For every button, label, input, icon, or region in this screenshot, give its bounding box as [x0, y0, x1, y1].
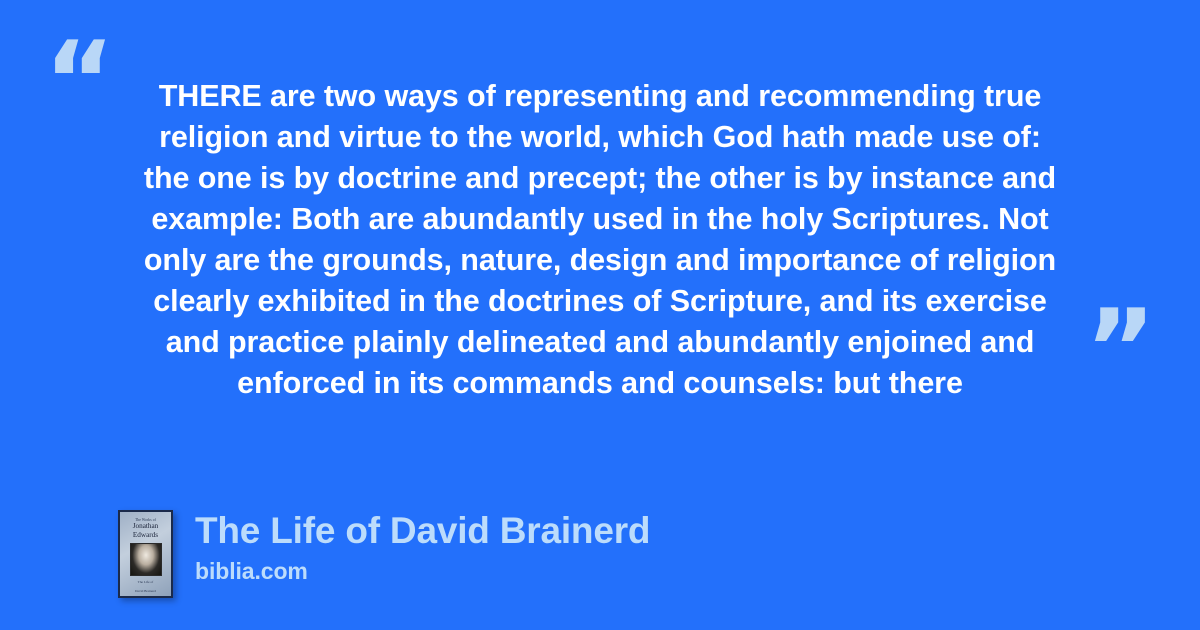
- quote-line: the one is by doctrine and precept; the …: [104, 158, 1096, 199]
- attribution-footer: The Works of Jonathan Edwards The Life o…: [118, 510, 650, 598]
- quote-line: example: Both are abundantly used in the…: [104, 199, 1096, 240]
- quote-text: THERE are two ways of representing and r…: [104, 76, 1096, 404]
- book-cover-thumbnail: The Works of Jonathan Edwards The Life o…: [118, 510, 173, 598]
- cover-title-line-2: David Brainerd: [135, 589, 156, 594]
- cover-title-line-1: The Life of: [138, 580, 153, 585]
- cover-author-first: Jonathan: [133, 522, 159, 531]
- book-cover-inner: The Works of Jonathan Edwards The Life o…: [122, 514, 169, 594]
- quote-line: religion and virtue to the world, which …: [104, 117, 1096, 158]
- quote-line: enforced in its commands and counsels: b…: [104, 363, 1096, 404]
- cover-portrait-image: [130, 543, 162, 576]
- book-title: The Life of David Brainerd: [195, 510, 650, 552]
- close-quote-icon: ”: [1085, 296, 1156, 404]
- quote-line: clearly exhibited in the doctrines of Sc…: [104, 281, 1096, 322]
- quote-line: and practice plainly delineated and abun…: [104, 322, 1096, 363]
- quote-card: “ THERE are two ways of representing and…: [0, 0, 1200, 630]
- cover-author-last: Edwards: [133, 531, 158, 540]
- quote-line: only are the grounds, nature, design and…: [104, 240, 1096, 281]
- quote-line: THERE are two ways of representing and r…: [104, 76, 1096, 117]
- site-name[interactable]: biblia.com: [195, 558, 650, 584]
- footer-text-block: The Life of David Brainerd biblia.com: [195, 510, 650, 584]
